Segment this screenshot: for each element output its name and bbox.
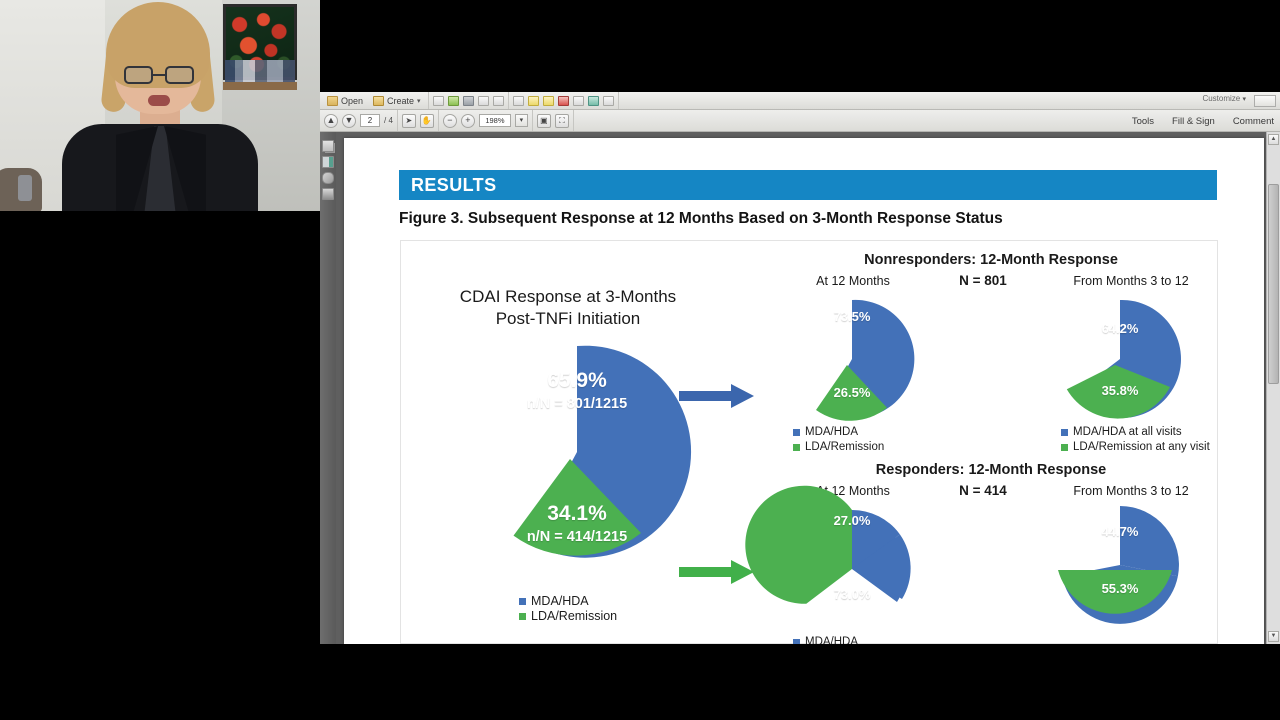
comment-menu-item[interactable]: Comment bbox=[1233, 116, 1274, 127]
responders-heading: Responders: 12-Month Response bbox=[771, 462, 1211, 478]
legend-swatch-green-icon bbox=[793, 444, 800, 451]
legend-swatch-green-icon bbox=[519, 613, 526, 620]
copy-icon[interactable] bbox=[573, 96, 584, 106]
scrollbar-thumb[interactable] bbox=[1268, 184, 1279, 384]
legend-item-mda-hda-nr: MDA/HDA bbox=[793, 425, 884, 440]
open-button[interactable]: Open bbox=[324, 93, 366, 108]
legend-label-mda-hda-all-visits: MDA/HDA at all visits bbox=[1073, 425, 1182, 440]
responders-n-label: N = 414 bbox=[913, 483, 1053, 498]
page-thumbnails-icon[interactable] bbox=[322, 140, 334, 152]
cdai-blue-sublabel: n/N = 801/1215 bbox=[466, 396, 688, 412]
glasses-icon bbox=[124, 66, 194, 84]
glasses-bridge bbox=[153, 74, 165, 76]
tools-menu-item[interactable]: Tools bbox=[1132, 116, 1154, 127]
responders-sub-right: From Months 3 to 12 bbox=[1051, 484, 1211, 498]
customize-text: Customize bbox=[1202, 94, 1240, 103]
cdai-blue-percent: 65.9% bbox=[466, 369, 688, 393]
open-label: Open bbox=[341, 96, 363, 106]
select-tools-group: ➤ ✋ bbox=[398, 110, 439, 131]
customize-panel-button[interactable] bbox=[1254, 95, 1276, 107]
pdf-reader-window: Open Create ▾ bbox=[320, 92, 1280, 644]
create-label: Create bbox=[387, 96, 414, 106]
webcam-video-panel bbox=[0, 0, 320, 211]
arrow-to-nonresponders-icon bbox=[679, 383, 755, 414]
nonresponders-3to12-blue-percent: 64.2% bbox=[1058, 321, 1182, 336]
next-page-icon[interactable]: ▼ bbox=[342, 114, 356, 128]
customize-chevron-down-icon: ▾ bbox=[1242, 96, 1246, 103]
page-tools-group bbox=[429, 92, 509, 109]
create-icon bbox=[373, 96, 384, 106]
pdf-right-menu: Tools Fill & Sign Comment bbox=[1132, 110, 1274, 132]
lens-left bbox=[124, 66, 153, 84]
mouth bbox=[148, 95, 170, 106]
email-icon[interactable] bbox=[493, 96, 504, 106]
cdai-green-sublabel: n/N = 414/1215 bbox=[466, 529, 688, 545]
cdai-green-percent: 34.1% bbox=[466, 502, 688, 526]
legend-swatch-blue-icon bbox=[1061, 429, 1068, 436]
figure-container: CDAI Response at 3-Months Post-TNFi Init… bbox=[400, 240, 1218, 644]
previous-page-icon[interactable]: ▲ bbox=[324, 114, 338, 128]
zoom-out-icon[interactable]: − bbox=[443, 114, 457, 128]
legend-swatch-green-icon bbox=[1061, 444, 1068, 451]
pdf-main-toolbar: Open Create ▾ bbox=[320, 92, 1280, 110]
nonresponders-n-label: N = 801 bbox=[913, 273, 1053, 288]
legend-item-mda-hda: MDA/HDA bbox=[519, 594, 617, 609]
wall-shelf bbox=[223, 82, 297, 90]
legend-swatch-blue-icon bbox=[519, 598, 526, 605]
customize-label[interactable]: Customize ▾ bbox=[1202, 94, 1246, 103]
legend-item-lda-remission: LDA/Remission bbox=[519, 609, 617, 624]
delete-icon[interactable] bbox=[558, 96, 569, 106]
bookmarks-icon[interactable] bbox=[322, 156, 334, 168]
vertical-scrollbar[interactable]: ▲ ▼ bbox=[1266, 132, 1280, 644]
responders-12mo-green-percent: 73.0% bbox=[790, 587, 914, 602]
pdf-side-rail bbox=[320, 132, 336, 644]
comment-tools-group bbox=[509, 92, 619, 109]
create-button[interactable]: Create ▾ bbox=[370, 93, 424, 108]
view-group: ▣ ⛶ bbox=[533, 110, 574, 131]
pie-chart-nonresponders-3to12 bbox=[1058, 297, 1182, 421]
page-total-label: / 4 bbox=[384, 116, 393, 125]
nonresponders-3to12-green-percent: 35.8% bbox=[1058, 383, 1182, 398]
legend-item-mda-hda-all-visits: MDA/HDA at all visits bbox=[1061, 425, 1210, 440]
scroll-up-icon[interactable]: ▲ bbox=[1268, 134, 1279, 145]
legend-item-lda-remission-any-visit: LDA/Remission at any visit bbox=[1061, 440, 1210, 455]
fill-and-sign-menu-item[interactable]: Fill & Sign bbox=[1172, 116, 1215, 127]
responders-3to12-green-percent: 55.3% bbox=[1058, 581, 1182, 596]
results-header-text: RESULTS bbox=[399, 175, 496, 196]
zoom-chevron-down-icon[interactable]: ▾ bbox=[515, 114, 528, 127]
legend-label-mda-hda-nr: MDA/HDA bbox=[805, 425, 858, 440]
arrow-to-responders-icon bbox=[679, 559, 755, 590]
fullscreen-icon[interactable]: ⛶ bbox=[555, 114, 569, 128]
nonresponders-12mo-blue-percent: 73.5% bbox=[790, 309, 914, 324]
attachments-icon[interactable] bbox=[322, 172, 334, 184]
legend-label-mda-hda: MDA/HDA bbox=[531, 594, 589, 609]
select-tool-icon[interactable]: ➤ bbox=[402, 114, 416, 128]
responders-3to12-blue-percent: 44.7% bbox=[1058, 524, 1182, 539]
lens-right bbox=[165, 66, 194, 84]
folder-icon bbox=[327, 96, 338, 106]
zoom-group: − + 198% ▾ bbox=[439, 110, 533, 131]
zoom-in-icon[interactable]: + bbox=[461, 114, 475, 128]
legend-swatch-blue-icon bbox=[793, 639, 800, 644]
legend-swatch-blue-icon bbox=[793, 429, 800, 436]
nonresponders-sub-right: From Months 3 to 12 bbox=[1051, 274, 1211, 288]
save-as-icon[interactable] bbox=[433, 96, 444, 106]
legend-responders-12mo: MDA/HDA bbox=[793, 635, 858, 644]
left-chart-title-line2: Post-TNFi Initiation bbox=[413, 309, 723, 329]
door-handle bbox=[18, 175, 32, 201]
chevron-down-icon: ▾ bbox=[417, 97, 421, 105]
sticky-note-icon[interactable] bbox=[528, 96, 539, 106]
edit-icon[interactable] bbox=[478, 96, 489, 106]
legend-label-lda-remission: LDA/Remission bbox=[531, 609, 617, 624]
responders-12mo-blue-percent: 27.0% bbox=[790, 513, 914, 528]
pdf-page-canvas: RESULTS Figure 3. Subsequent Response at… bbox=[344, 138, 1264, 644]
pie-chart-responders-3to12 bbox=[1058, 503, 1182, 627]
zoom-level-input[interactable]: 198% bbox=[479, 114, 511, 127]
legend-label-mda-hda-resp: MDA/HDA bbox=[805, 635, 858, 644]
nonresponders-sub-left: At 12 Months bbox=[773, 274, 933, 288]
fit-page-icon[interactable]: ▣ bbox=[537, 114, 551, 128]
pdf-navigation-toolbar: ▲ ▼ 2 / 4 ➤ ✋ − + 198% ▾ ▣ ⛶ Tools Fill bbox=[320, 110, 1280, 132]
legend-item-lda-remission-nr: LDA/Remission bbox=[793, 440, 884, 455]
sign-icon[interactable] bbox=[588, 96, 599, 106]
stamp-icon[interactable] bbox=[513, 96, 524, 106]
screen-root: Open Create ▾ bbox=[0, 0, 1280, 720]
left-chart-title-line1: CDAI Response at 3-Months bbox=[413, 287, 723, 307]
signatures-icon[interactable] bbox=[322, 188, 334, 200]
file-group: Open Create ▾ bbox=[320, 92, 429, 109]
print-icon[interactable] bbox=[463, 96, 474, 106]
legend-nonresponders-3to12: MDA/HDA at all visits LDA/Remission at a… bbox=[1061, 425, 1210, 455]
nonresponders-heading: Nonresponders: 12-Month Response bbox=[771, 252, 1211, 268]
legend-nonresponders-12mo: MDA/HDA LDA/Remission bbox=[793, 425, 884, 455]
figure-title: Figure 3. Subsequent Response at 12 Mont… bbox=[399, 210, 1003, 228]
hand-tool-icon[interactable]: ✋ bbox=[420, 114, 434, 128]
legend-label-lda-remission-any-visit: LDA/Remission at any visit bbox=[1073, 440, 1210, 455]
legend-label-lda-remission-nr: LDA/Remission bbox=[805, 440, 884, 455]
highlight-icon[interactable] bbox=[543, 96, 554, 106]
legend-item-mda-hda-resp: MDA/HDA bbox=[793, 635, 858, 644]
legend-cdai: MDA/HDA LDA/Remission bbox=[519, 594, 617, 624]
scroll-down-icon[interactable]: ▼ bbox=[1268, 631, 1279, 642]
page-nav-group: ▲ ▼ 2 / 4 bbox=[320, 110, 398, 131]
results-section-header: RESULTS bbox=[399, 170, 1217, 200]
page-number-input[interactable]: 2 bbox=[360, 114, 380, 127]
export-icon[interactable] bbox=[448, 96, 459, 106]
pencil-icon[interactable] bbox=[603, 96, 614, 106]
nonresponders-12mo-green-percent: 26.5% bbox=[790, 385, 914, 400]
